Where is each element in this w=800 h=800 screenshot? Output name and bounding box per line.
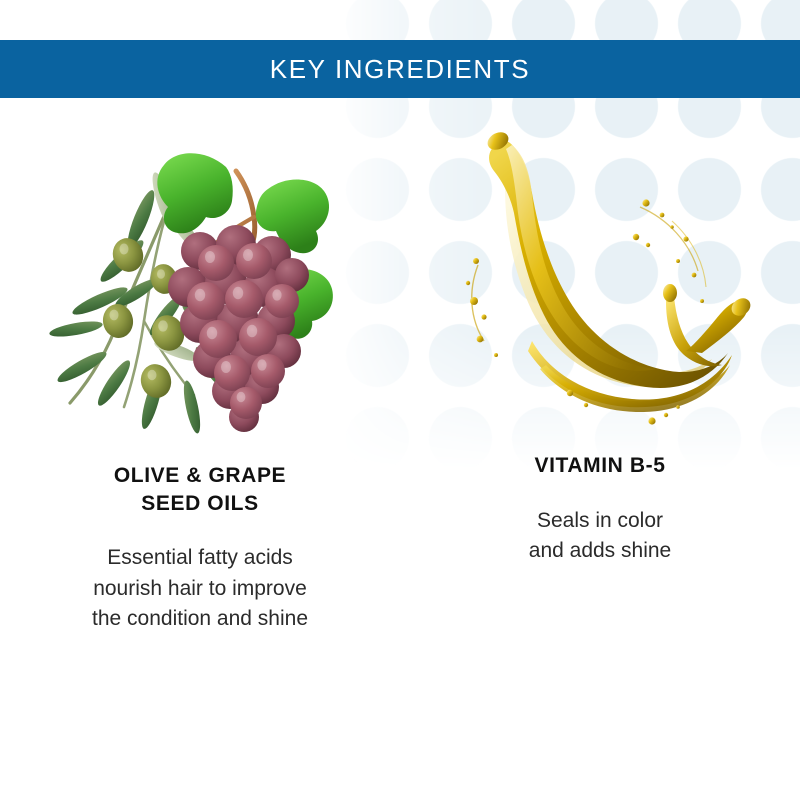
grape-leaf-top bbox=[157, 153, 232, 233]
olive-branch-and-grapes-icon bbox=[40, 115, 360, 435]
ingredient-title-line-1: OLIVE & GRAPE bbox=[114, 464, 286, 487]
ingredient-title-line-2: SEED OILS bbox=[141, 492, 258, 515]
ingredient-card-olive-grape: OLIVE & GRAPE SEED OILS Essential fatty … bbox=[0, 110, 400, 670]
ingredient-title-line-1: VITAMIN B-5 bbox=[534, 454, 665, 477]
ingredient-columns: OLIVE & GRAPE SEED OILS Essential fatty … bbox=[0, 110, 800, 670]
golden-oil-splash-icon bbox=[440, 115, 760, 435]
oil-ribbon-secondary bbox=[506, 145, 656, 371]
olive-grape-artwork bbox=[0, 110, 400, 440]
ingredient-desc-line-1: Essential fatty acids bbox=[107, 546, 293, 569]
grape-cluster-group bbox=[157, 153, 333, 432]
ingredient-description-olive-grape: Essential fatty acids nourish hair to im… bbox=[92, 543, 308, 634]
oil-tongue-tip bbox=[663, 284, 677, 302]
page-title: KEY INGREDIENTS bbox=[270, 56, 530, 82]
ingredient-description-vitamin-b5: Seals in color and adds shine bbox=[529, 506, 671, 567]
infographic-page: KEY INGREDIENTS bbox=[0, 0, 800, 800]
ingredient-title-vitamin-b5: VITAMIN B-5 bbox=[534, 452, 665, 480]
ingredient-desc-line-3: the condition and shine bbox=[92, 607, 308, 630]
ingredient-desc-line-1: Seals in color bbox=[537, 509, 663, 532]
header-band: KEY INGREDIENTS bbox=[0, 40, 800, 98]
ingredient-title-olive-grape: OLIVE & GRAPE SEED OILS bbox=[114, 462, 286, 517]
oil-filament-right bbox=[640, 207, 698, 271]
oil-splash-artwork bbox=[400, 110, 800, 440]
ingredient-desc-line-2: and adds shine bbox=[529, 539, 671, 562]
oil-filament-right-2 bbox=[672, 221, 706, 287]
ingredient-card-vitamin-b5: VITAMIN B-5 Seals in color and adds shin… bbox=[400, 110, 800, 670]
ingredient-desc-line-2: nourish hair to improve bbox=[93, 577, 307, 600]
